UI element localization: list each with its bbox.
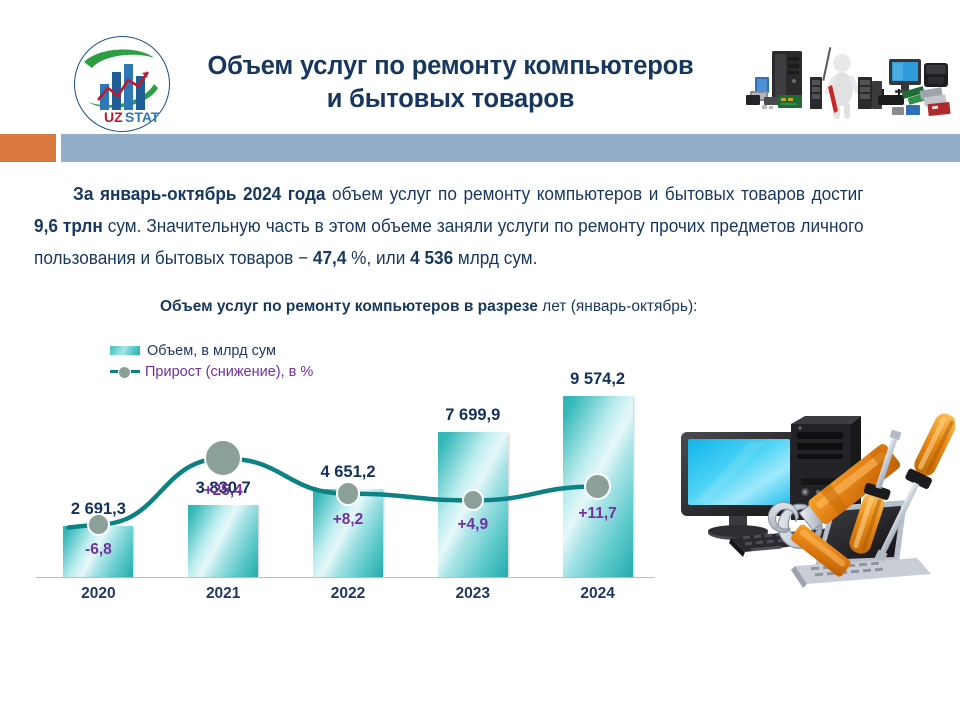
summary-paragraph: За январь-октябрь 2024 года объем услуг … <box>34 178 864 273</box>
uzstat-logo: UZ STAT <box>74 36 170 132</box>
electronics-collage-image <box>742 33 954 125</box>
summary-text-3: %, или <box>346 247 410 268</box>
summary-value-amount: 4 536 <box>410 247 453 268</box>
bar-value-label-2024: 9 574,2 <box>538 370 658 389</box>
chart-caption: Объем услуг по ремонту компьютеров в раз… <box>160 298 697 316</box>
x-axis-tick-2022: 2022 <box>288 585 408 603</box>
title-line-1: Объем услуг по ремонту компьютеров <box>178 50 723 83</box>
chart-plot-area: 2 691,3-6,820203 830,7+25,420214 651,2+8… <box>36 335 660 580</box>
growth-value-label-2022: +8,2 <box>288 511 408 529</box>
page-title: Объем услуг по ремонту компьютеров и быт… <box>178 50 723 115</box>
growth-value-label-2024: +11,7 <box>538 505 658 523</box>
summary-text-4: млрд сум. <box>453 247 537 268</box>
x-axis-tick-2020: 2020 <box>38 585 158 603</box>
summary-lead: За январь-октябрь 2024 года <box>73 183 325 204</box>
accent-band-orange <box>0 134 56 162</box>
x-axis-tick-2021: 2021 <box>163 585 283 603</box>
accent-band-blue <box>61 134 960 162</box>
summary-text-1: объем услуг по ремонту компьютеров и быт… <box>325 183 863 204</box>
title-line-2: и бытовых товаров <box>178 83 723 116</box>
bar-value-label-2023: 7 699,9 <box>413 406 533 425</box>
slide-root: UZ STAT Объем услуг по ремонту компьютер… <box>0 0 960 720</box>
bar-line-chart: Объем, в млрд сум Прирост (снижение), в … <box>36 335 660 605</box>
growth-value-label-2023: +4,9 <box>413 516 533 534</box>
svg-text:UZ: UZ <box>104 109 123 125</box>
summary-value-total: 9,6 трлн <box>34 215 103 236</box>
logo-graphic: UZ STAT <box>74 36 170 132</box>
svg-text:STAT: STAT <box>125 109 160 125</box>
header: UZ STAT Объем услуг по ремонту компьютер… <box>0 0 960 125</box>
x-axis-tick-2023: 2023 <box>413 585 533 603</box>
chart-caption-normal: лет (январь-октябрь): <box>538 298 698 315</box>
growth-value-label-2020: -6,8 <box>38 541 158 559</box>
bar-value-label-2022: 4 651,2 <box>288 463 408 482</box>
growth-value-label-2021: +25,4 <box>163 482 283 500</box>
chart-caption-bold: Объем услуг по ремонту компьютеров в раз… <box>160 298 538 315</box>
summary-value-share: 47,4 <box>313 247 346 268</box>
computer-repair-illustration <box>655 370 955 620</box>
x-axis-tick-2024: 2024 <box>538 585 658 603</box>
